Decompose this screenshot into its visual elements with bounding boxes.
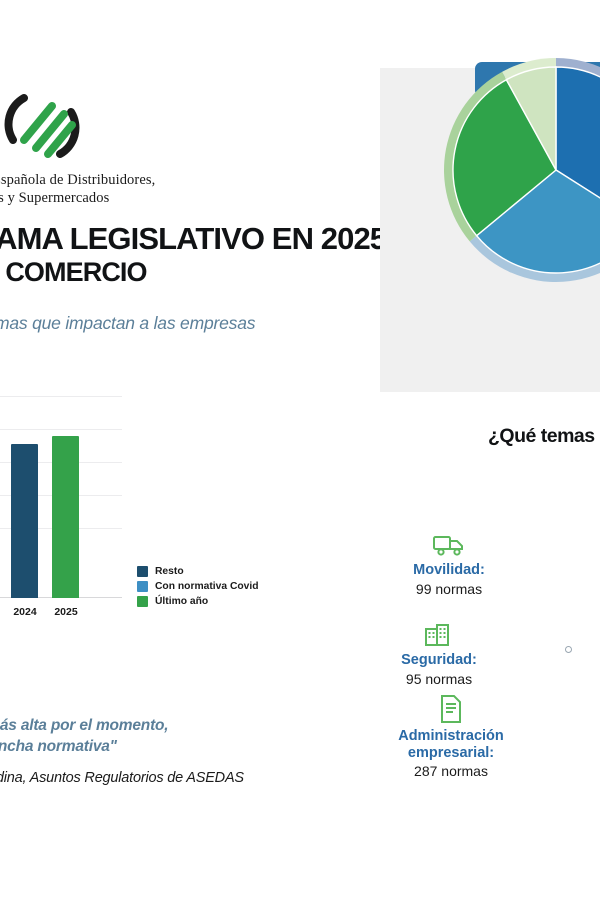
legend-item-2: Último año [137, 596, 259, 607]
left-column: Asociación Española de Distribuidores, A… [0, 0, 380, 900]
asedas-logo-icon [0, 88, 84, 166]
bar-chart: 20212022202320242025 [0, 392, 122, 620]
truck-icon [380, 528, 524, 558]
title-line-2: PARA EL COMERCIO [0, 257, 380, 287]
topic-count: 287 normas [380, 763, 526, 779]
topic-item-movilidad: Movilidad: 99 normas [380, 528, 524, 597]
building-icon [380, 618, 514, 648]
page-title: PANORAMA LEGISLATIVO EN 2025 PARA EL COM… [0, 222, 380, 287]
document-icon [380, 694, 526, 724]
topic-bullet-marker [565, 646, 572, 653]
legend-label: Resto [155, 566, 184, 577]
pie-chart [440, 54, 600, 286]
brand-name-line1: Asociación Española de Distribuidores, [0, 172, 107, 190]
bar-label-2024: 2024 [5, 606, 45, 618]
infographic-canvas: Asociación Española de Distribuidores, A… [0, 0, 600, 900]
brand-name: Asociación Española de Distribuidores, A… [0, 172, 107, 207]
topics-section-title: ¿Qué temas regulan? [488, 425, 600, 448]
right-column: ¿De dónde vienen? ¿Qué temas regulan? Mo… [380, 0, 600, 900]
topic-count: 99 normas [380, 581, 524, 597]
topic-name: Seguridad: [380, 652, 514, 669]
legend-label: Último año [155, 596, 208, 607]
legend-item-0: Resto [137, 566, 259, 577]
legend-swatch-icon [137, 581, 148, 592]
legend-swatch-icon [137, 596, 148, 607]
chart-bars [0, 412, 122, 598]
topic-name: Movilidad: [380, 562, 524, 579]
legend-item-1: Con normativa Covid [137, 581, 259, 592]
topic-name: Administración empresarial: [380, 728, 526, 761]
legend-swatch-icon [137, 566, 148, 577]
quote-attribution: Felipe Medina, Asuntos Regulatorios de A… [0, 770, 244, 786]
pull-quote: "Es la cifra más alta por el momento, da… [0, 716, 324, 757]
topic-count: 95 normas [380, 671, 514, 687]
page-subtitle: Las normas que impactan a las empresas [0, 313, 255, 334]
brand-name-line2: Autoservicios y Supermercados [0, 190, 107, 208]
bar-2024 [11, 444, 38, 598]
quote-line-2: dada la avalancha normativa" [0, 737, 324, 758]
topic-item-administracion: Administración empresarial: 287 normas [380, 694, 526, 779]
bar-2025 [52, 436, 79, 598]
chart-legend: RestoCon normativa CovidÚltimo año [137, 566, 259, 611]
bar-label-2023: 2023 [0, 606, 4, 618]
legend-label: Con normativa Covid [155, 581, 259, 592]
bar-label-2025: 2025 [46, 606, 86, 618]
quote-line-1: "Es la cifra más alta por el momento, [0, 716, 324, 737]
title-line-1: PANORAMA LEGISLATIVO EN 2025 [0, 222, 380, 257]
brand-logo-block: Asociación Española de Distribuidores, A… [0, 88, 107, 207]
topic-item-seguridad: Seguridad: 95 normas [380, 618, 514, 687]
